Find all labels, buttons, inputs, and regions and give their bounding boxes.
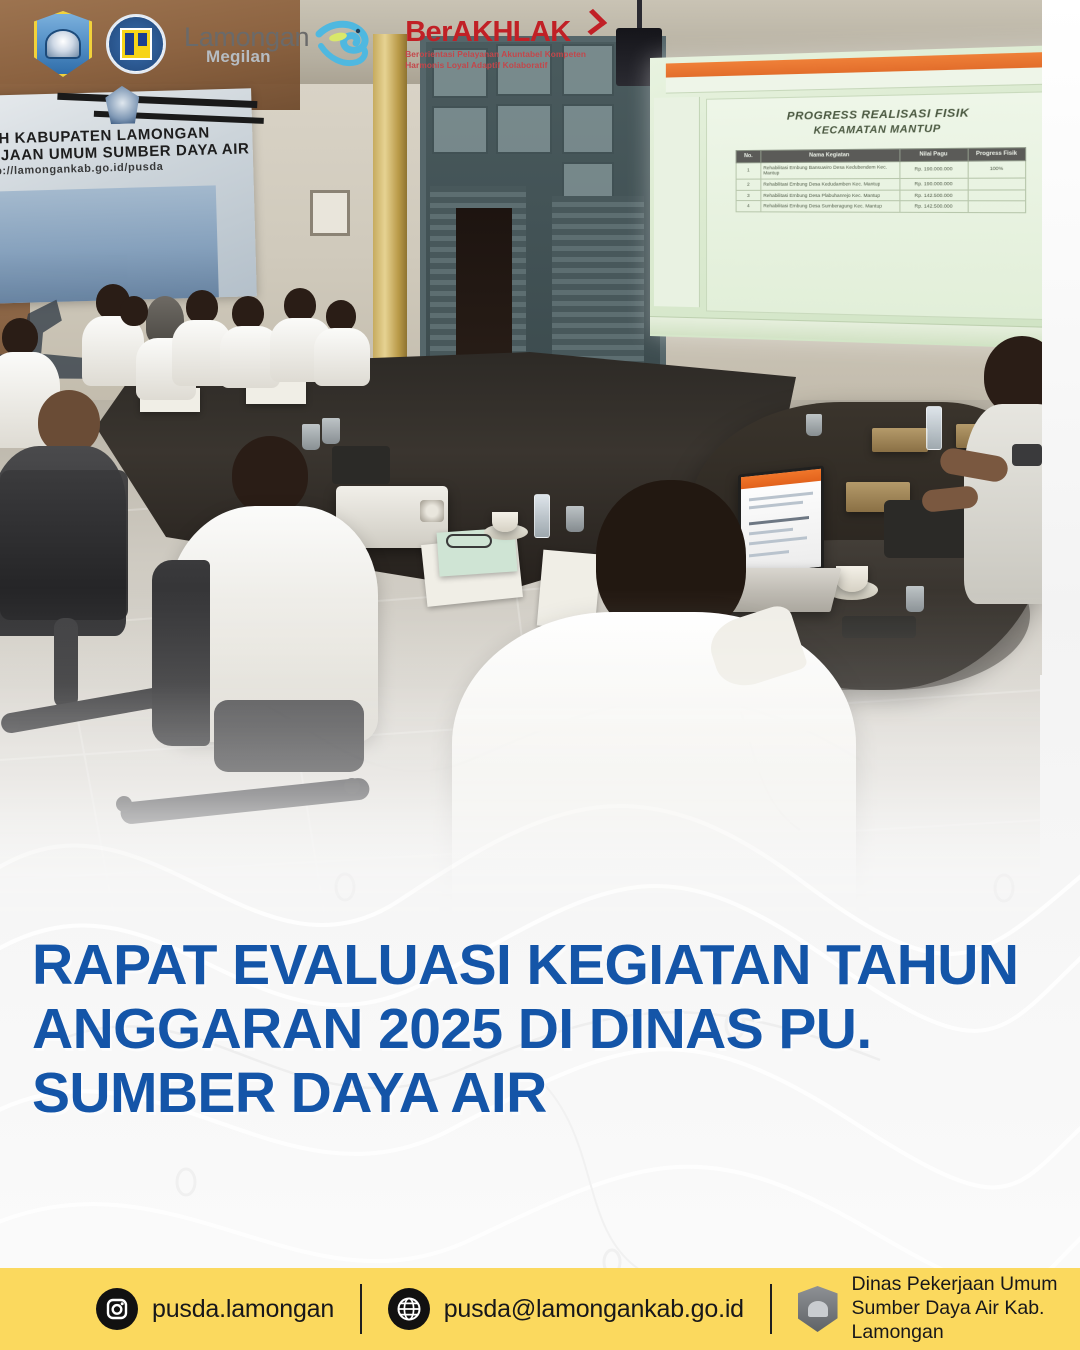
globe-icon[interactable] [388,1288,430,1330]
meeting-photo: TAH KABUPATEN LAMONGAN ERJAAN UMUM SUMBE… [0,0,1042,948]
berakhlak-tagline-line2: Harmonis Loyal Adaptif Kolaboratif [405,60,586,71]
headline-line-1: RAPAT EVALUASI KEGIATAN TAHUN [32,936,1052,994]
page-title: RAPAT EVALUASI KEGIATAN TAHUN ANGGARAN 2… [32,936,1052,1128]
footer-instagram[interactable]: pusda.lamongan [96,1288,334,1330]
fish-ornament-icon [311,16,373,72]
office-emblem-icon [798,1286,838,1332]
office-name: Dinas Pekerjaan Umum Sumber Daya Air Kab… [852,1273,1080,1344]
lamongan-brand-tagline: Megilan [206,48,309,65]
footer-bar: pusda.lamongan pusda@lamongankab.go.id D… [0,1268,1080,1350]
pu-symbol-icon [122,30,150,58]
website-address: pusda@lamongankab.go.id [444,1295,744,1324]
instagram-icon[interactable] [96,1288,138,1330]
pu-sda-logo-icon [106,14,166,74]
poster-canvas: TAH KABUPATEN LAMONGAN ERJAAN UMUM SUMBE… [0,0,1080,1350]
lamongan-regency-emblem-icon [34,11,92,77]
berakhlak-logo: BerAKHLAK Berorientasi Pelayanan Akuntab… [405,18,586,71]
headline-line-2: ANGGARAN 2025 DI DINAS PU. [32,1000,1052,1058]
berakhlak-name: BerAKHLAK [405,18,586,47]
footer-office: Dinas Pekerjaan Umum Sumber Daya Air Kab… [798,1273,1080,1344]
berakhlak-tagline: Berorientasi Pelayanan Akuntabel Kompete… [405,49,586,71]
footer-website[interactable]: pusda@lamongankab.go.id [388,1288,744,1330]
berakhlak-tagline-line1: Berorientasi Pelayanan Akuntabel Kompete… [405,49,586,60]
headline-line-3: SUMBER DAYA AIR [32,1064,1052,1122]
header-logo-bar: Lamongan Megilan BerAKHLAK Berorientasi … [0,0,1080,88]
office-name-line1: Dinas Pekerjaan Umum [852,1273,1080,1297]
footer-divider [360,1284,362,1334]
crown-icon [47,31,79,57]
office-name-line2: Sumber Daya Air Kab. Lamongan [852,1297,1080,1345]
footer-divider [770,1284,772,1334]
photo-fade [0,0,1042,948]
lamongan-brand: Lamongan Megilan [184,16,373,72]
instagram-handle: pusda.lamongan [152,1295,334,1324]
